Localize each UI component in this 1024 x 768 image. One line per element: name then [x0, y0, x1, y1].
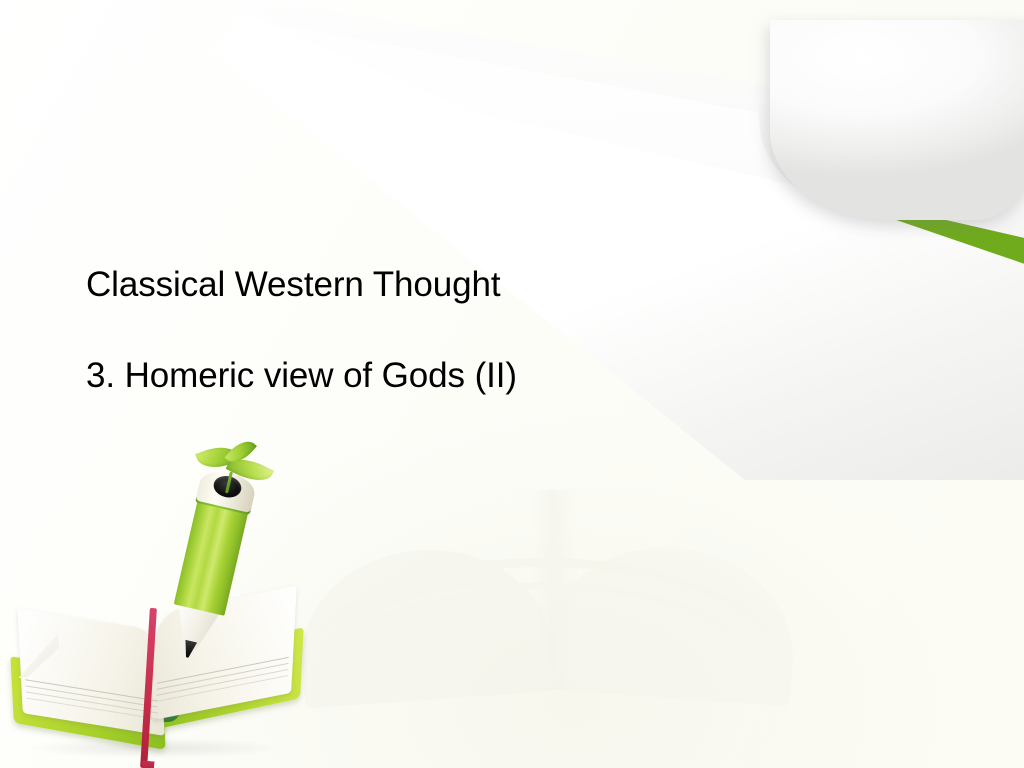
open-book-watermark [300, 430, 820, 730]
slide-title-line-2: 3. Homeric view of Gods (II) [86, 357, 726, 394]
slide-title-block: Classical Western Thought 3. Homeric vie… [86, 266, 726, 394]
book-and-sprouting-pencil-illustration [6, 450, 316, 768]
sprout-stem [225, 471, 233, 493]
slide-title-line-1: Classical Western Thought [86, 266, 726, 303]
bookmark-ribbon-tip [141, 761, 154, 768]
presentation-slide: Classical Western Thought 3. Homeric vie… [0, 0, 1024, 768]
